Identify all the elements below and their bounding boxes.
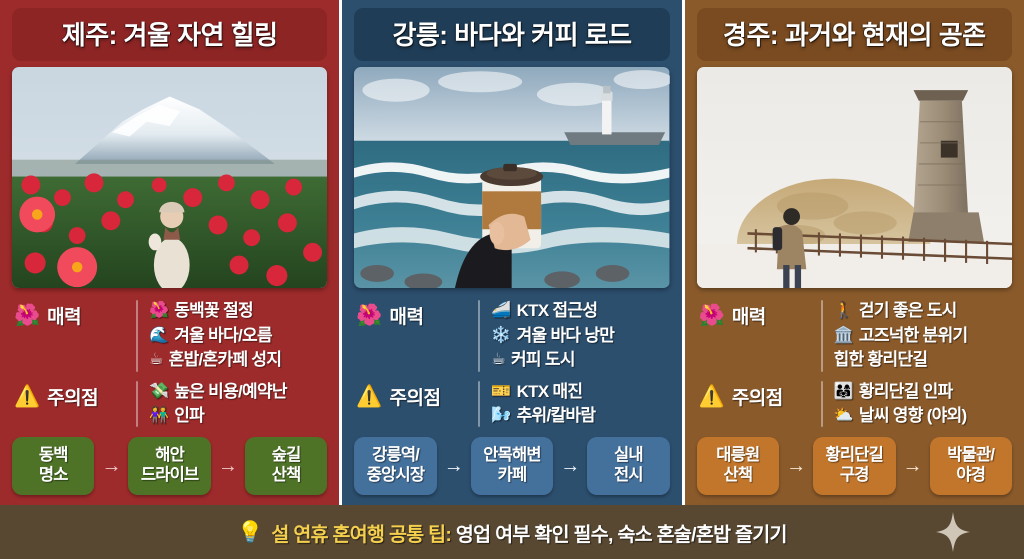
row-divider bbox=[821, 300, 823, 371]
list-item: 👨‍👩‍👧 황리단길 인파 bbox=[834, 381, 1010, 403]
list-item-label: KTX 매진 bbox=[517, 381, 583, 403]
caution-row-jeju: ⚠️ 주의점 💸 높은 비용/예약난 👫 인파 bbox=[14, 381, 325, 428]
row-divider bbox=[821, 381, 823, 428]
money-flying-icon: 💸 bbox=[149, 384, 168, 400]
caution-label: 주의점 bbox=[389, 383, 440, 410]
caution-label: 주의점 bbox=[47, 383, 98, 410]
warning-icon: ⚠️ bbox=[14, 386, 40, 407]
footer-tip-highlight: 설 연휴 혼여행 공통 팁: bbox=[271, 524, 451, 546]
list-item-label: 인파 bbox=[174, 405, 204, 427]
charm-label-group: 🌺 매력 bbox=[699, 300, 821, 329]
route-step-line2: 야경 bbox=[932, 466, 1010, 486]
list-item-label: 겨울 바다 낭만 bbox=[517, 325, 615, 347]
card-title-gangneung: 강릉: 바다와 커피 로드 bbox=[354, 8, 669, 61]
arrow-icon: → bbox=[896, 456, 930, 476]
route-step-line1: 황리단길 bbox=[815, 446, 893, 466]
charm-label: 매력 bbox=[389, 302, 423, 329]
list-item: 💸 높은 비용/예약난 bbox=[149, 381, 325, 403]
route-step-line1: 해안 bbox=[130, 446, 208, 466]
train-icon: 🚄 bbox=[491, 303, 510, 319]
caution-label-group: ⚠️ 주의점 bbox=[356, 381, 478, 410]
wind-icon: 🌬️ bbox=[491, 408, 510, 424]
list-item-label: KTX 접근성 bbox=[517, 300, 598, 322]
hibiscus-icon: 🌺 bbox=[14, 305, 40, 326]
route-step-line2: 드라이브 bbox=[130, 466, 208, 486]
route-step-line2: 명소 bbox=[14, 466, 92, 486]
card-title-jeju: 제주: 겨울 자연 힐링 bbox=[12, 8, 327, 61]
sparkle-icon bbox=[936, 512, 970, 552]
caution-label-group: ⚠️ 주의점 bbox=[14, 381, 136, 410]
arrow-icon: → bbox=[553, 456, 587, 476]
charm-items: 🚄 KTX 접근성 ❄️ 겨울 바다 낭만 ☕ 커피 도시 bbox=[491, 300, 667, 371]
ticket-icon: 🎫 bbox=[491, 384, 510, 400]
list-item-label: 겨울 바다/오름 bbox=[174, 325, 272, 347]
footer-tip-text: 설 연휴 혼여행 공통 팁: 영업 여부 확인 필수, 숙소 혼술/혼밥 즐기기 bbox=[271, 518, 786, 547]
list-item: 힙한 황리단길 bbox=[834, 349, 1010, 371]
arrow-icon: → bbox=[211, 456, 245, 476]
card-info-jeju: 🌺 매력 🌺 동백꽃 절정 🌊 겨울 바다/오름 ☕ 혼밥/혼카페 bbox=[14, 300, 325, 427]
card-gyeongju[interactable]: 경주: 과거와 현재의 공존 bbox=[685, 0, 1024, 505]
route-step[interactable]: 안목해변 카페 bbox=[471, 437, 553, 495]
list-item-label: 높은 비용/예약난 bbox=[174, 381, 287, 403]
charm-items: 🌺 동백꽃 절정 🌊 겨울 바다/오름 ☕ 혼밥/혼카페 성지 bbox=[149, 300, 325, 371]
route-step-line1: 숲길 bbox=[247, 446, 325, 466]
card-info-gyeongju: 🌺 매력 🚶 걷기 좋은 도시 🏛️ 고즈넉한 분위기 힙한 황리단길 bbox=[699, 300, 1010, 427]
list-item-label: 황리단길 인파 bbox=[859, 381, 953, 403]
list-item: 🚄 KTX 접근성 bbox=[491, 300, 667, 322]
charm-row-gangneung: 🌺 매력 🚄 KTX 접근성 ❄️ 겨울 바다 낭만 ☕ 커피 도시 bbox=[356, 300, 667, 371]
list-item: 👫 인파 bbox=[149, 405, 325, 427]
list-item: 🏛️ 고즈넉한 분위기 bbox=[834, 325, 1010, 347]
route-step-line1: 강릉역/ bbox=[356, 446, 434, 466]
route-gyeongju: 대릉원 산책 → 황리단길 구경 → 박물관/ 야경 bbox=[697, 427, 1012, 495]
wave-icon: 🌊 bbox=[149, 328, 168, 344]
list-item-label: 혼밥/혼카페 성지 bbox=[169, 349, 282, 371]
caution-row-gangneung: ⚠️ 주의점 🎫 KTX 매진 🌬️ 추위/칼바람 bbox=[356, 381, 667, 428]
card-photo-jeju bbox=[12, 67, 327, 288]
route-step-line1: 동백 bbox=[14, 446, 92, 466]
card-jeju[interactable]: 제주: 겨울 자연 힐링 bbox=[0, 0, 339, 505]
family-icon: 👨‍👩‍👧 bbox=[834, 384, 853, 400]
list-item-label: 날씨 영향 (야외) bbox=[859, 405, 967, 427]
snowflake-icon: ❄️ bbox=[491, 328, 510, 344]
route-step-line2: 카페 bbox=[473, 466, 551, 486]
route-step[interactable]: 박물관/ 야경 bbox=[930, 437, 1012, 495]
row-divider bbox=[478, 381, 480, 428]
warning-icon: ⚠️ bbox=[356, 386, 382, 407]
lightbulb-icon: 💡 bbox=[237, 522, 263, 543]
route-step-line1: 박물관/ bbox=[932, 446, 1010, 466]
route-step[interactable]: 동백 명소 bbox=[12, 437, 94, 495]
route-step-line1: 안목해변 bbox=[473, 446, 551, 466]
list-item-label: 동백꽃 절정 bbox=[174, 300, 253, 322]
list-item: 🎫 KTX 매진 bbox=[491, 381, 667, 403]
list-item-label: 커피 도시 bbox=[511, 349, 575, 371]
row-divider bbox=[136, 300, 138, 371]
sun-behind-cloud-icon: ⛅ bbox=[834, 408, 853, 424]
route-step-line2: 구경 bbox=[815, 466, 893, 486]
caution-row-gyeongju: ⚠️ 주의점 👨‍👩‍👧 황리단길 인파 ⛅ 날씨 영향 (야외) bbox=[699, 381, 1010, 428]
charm-row-jeju: 🌺 매력 🌺 동백꽃 절정 🌊 겨울 바다/오름 ☕ 혼밥/혼카페 bbox=[14, 300, 325, 371]
route-step-line1: 실내 bbox=[589, 446, 667, 466]
caution-label-group: ⚠️ 주의점 bbox=[699, 381, 821, 410]
list-item-label: 걷기 좋은 도시 bbox=[859, 300, 957, 322]
card-photo-gangneung bbox=[354, 67, 669, 288]
arrow-icon: → bbox=[94, 456, 128, 476]
card-photo-gyeongju bbox=[697, 67, 1012, 288]
route-step-line1: 대릉원 bbox=[699, 446, 777, 466]
list-item: 🌺 동백꽃 절정 bbox=[149, 300, 325, 322]
row-divider bbox=[478, 300, 480, 371]
cards-board: 제주: 겨울 자연 힐링 bbox=[0, 0, 1024, 505]
route-step-line2: 산책 bbox=[699, 466, 777, 486]
list-item-label: 힙한 황리단길 bbox=[834, 349, 928, 371]
list-item: ☕ 혼밥/혼카페 성지 bbox=[149, 349, 325, 371]
walking-icon: 🚶 bbox=[834, 303, 853, 319]
route-step[interactable]: 대릉원 산책 bbox=[697, 437, 779, 495]
hibiscus-icon: 🌺 bbox=[149, 303, 168, 319]
list-item: ⛅ 날씨 영향 (야외) bbox=[834, 405, 1010, 427]
list-item: ❄️ 겨울 바다 낭만 bbox=[491, 325, 667, 347]
route-jeju: 동백 명소 → 해안 드라이브 → 숲길 산책 bbox=[12, 427, 327, 495]
people-icon: 👫 bbox=[149, 408, 168, 424]
caution-items: 💸 높은 비용/예약난 👫 인파 bbox=[149, 381, 325, 428]
coffee-icon: ☕ bbox=[149, 352, 163, 368]
hibiscus-icon: 🌺 bbox=[699, 305, 725, 326]
caution-items: 👨‍👩‍👧 황리단길 인파 ⛅ 날씨 영향 (야외) bbox=[834, 381, 1010, 428]
warning-icon: ⚠️ bbox=[699, 386, 725, 407]
list-item: ☕ 커피 도시 bbox=[491, 349, 667, 371]
route-step-line2: 중앙시장 bbox=[356, 466, 434, 486]
arrow-icon: → bbox=[779, 456, 813, 476]
list-item: 🌊 겨울 바다/오름 bbox=[149, 325, 325, 347]
card-title-gyeongju: 경주: 과거와 현재의 공존 bbox=[697, 8, 1012, 61]
route-gangneung: 강릉역/ 중앙시장 → 안목해변 카페 → 실내 전시 bbox=[354, 427, 669, 495]
list-item-label: 추위/칼바람 bbox=[517, 405, 596, 427]
coffee-icon: ☕ bbox=[491, 352, 505, 368]
charm-label: 매력 bbox=[732, 302, 766, 329]
route-step[interactable]: 강릉역/ 중앙시장 bbox=[354, 437, 436, 495]
charm-row-gyeongju: 🌺 매력 🚶 걷기 좋은 도시 🏛️ 고즈넉한 분위기 힙한 황리단길 bbox=[699, 300, 1010, 371]
caution-label: 주의점 bbox=[732, 383, 783, 410]
charm-label-group: 🌺 매력 bbox=[14, 300, 136, 329]
list-item: 🌬️ 추위/칼바람 bbox=[491, 405, 667, 427]
route-step-line2: 전시 bbox=[589, 466, 667, 486]
charm-label-group: 🌺 매력 bbox=[356, 300, 478, 329]
route-step[interactable]: 황리단길 구경 bbox=[813, 437, 895, 495]
card-gangneung[interactable]: 강릉: 바다와 커피 로드 bbox=[342, 0, 681, 505]
classical-building-icon: 🏛️ bbox=[834, 328, 853, 344]
footer-tip-rest: 영업 여부 확인 필수, 숙소 혼술/혼밥 즐기기 bbox=[451, 524, 787, 546]
list-item: 🚶 걷기 좋은 도시 bbox=[834, 300, 1010, 322]
hibiscus-icon: 🌺 bbox=[356, 305, 382, 326]
route-step[interactable]: 해안 드라이브 bbox=[128, 437, 210, 495]
charm-label: 매력 bbox=[47, 302, 81, 329]
arrow-icon: → bbox=[437, 456, 471, 476]
row-divider bbox=[136, 381, 138, 428]
charm-items: 🚶 걷기 좋은 도시 🏛️ 고즈넉한 분위기 힙한 황리단길 bbox=[834, 300, 1010, 371]
card-info-gangneung: 🌺 매력 🚄 KTX 접근성 ❄️ 겨울 바다 낭만 ☕ 커피 도시 bbox=[356, 300, 667, 427]
route-step[interactable]: 숲길 산책 bbox=[245, 437, 327, 495]
route-step[interactable]: 실내 전시 bbox=[587, 437, 669, 495]
footer-tip-bar: 💡 설 연휴 혼여행 공통 팁: 영업 여부 확인 필수, 숙소 혼술/혼밥 즐… bbox=[0, 505, 1024, 559]
list-item-label: 고즈넉한 분위기 bbox=[859, 325, 968, 347]
caution-items: 🎫 KTX 매진 🌬️ 추위/칼바람 bbox=[491, 381, 667, 428]
route-step-line2: 산책 bbox=[247, 466, 325, 486]
